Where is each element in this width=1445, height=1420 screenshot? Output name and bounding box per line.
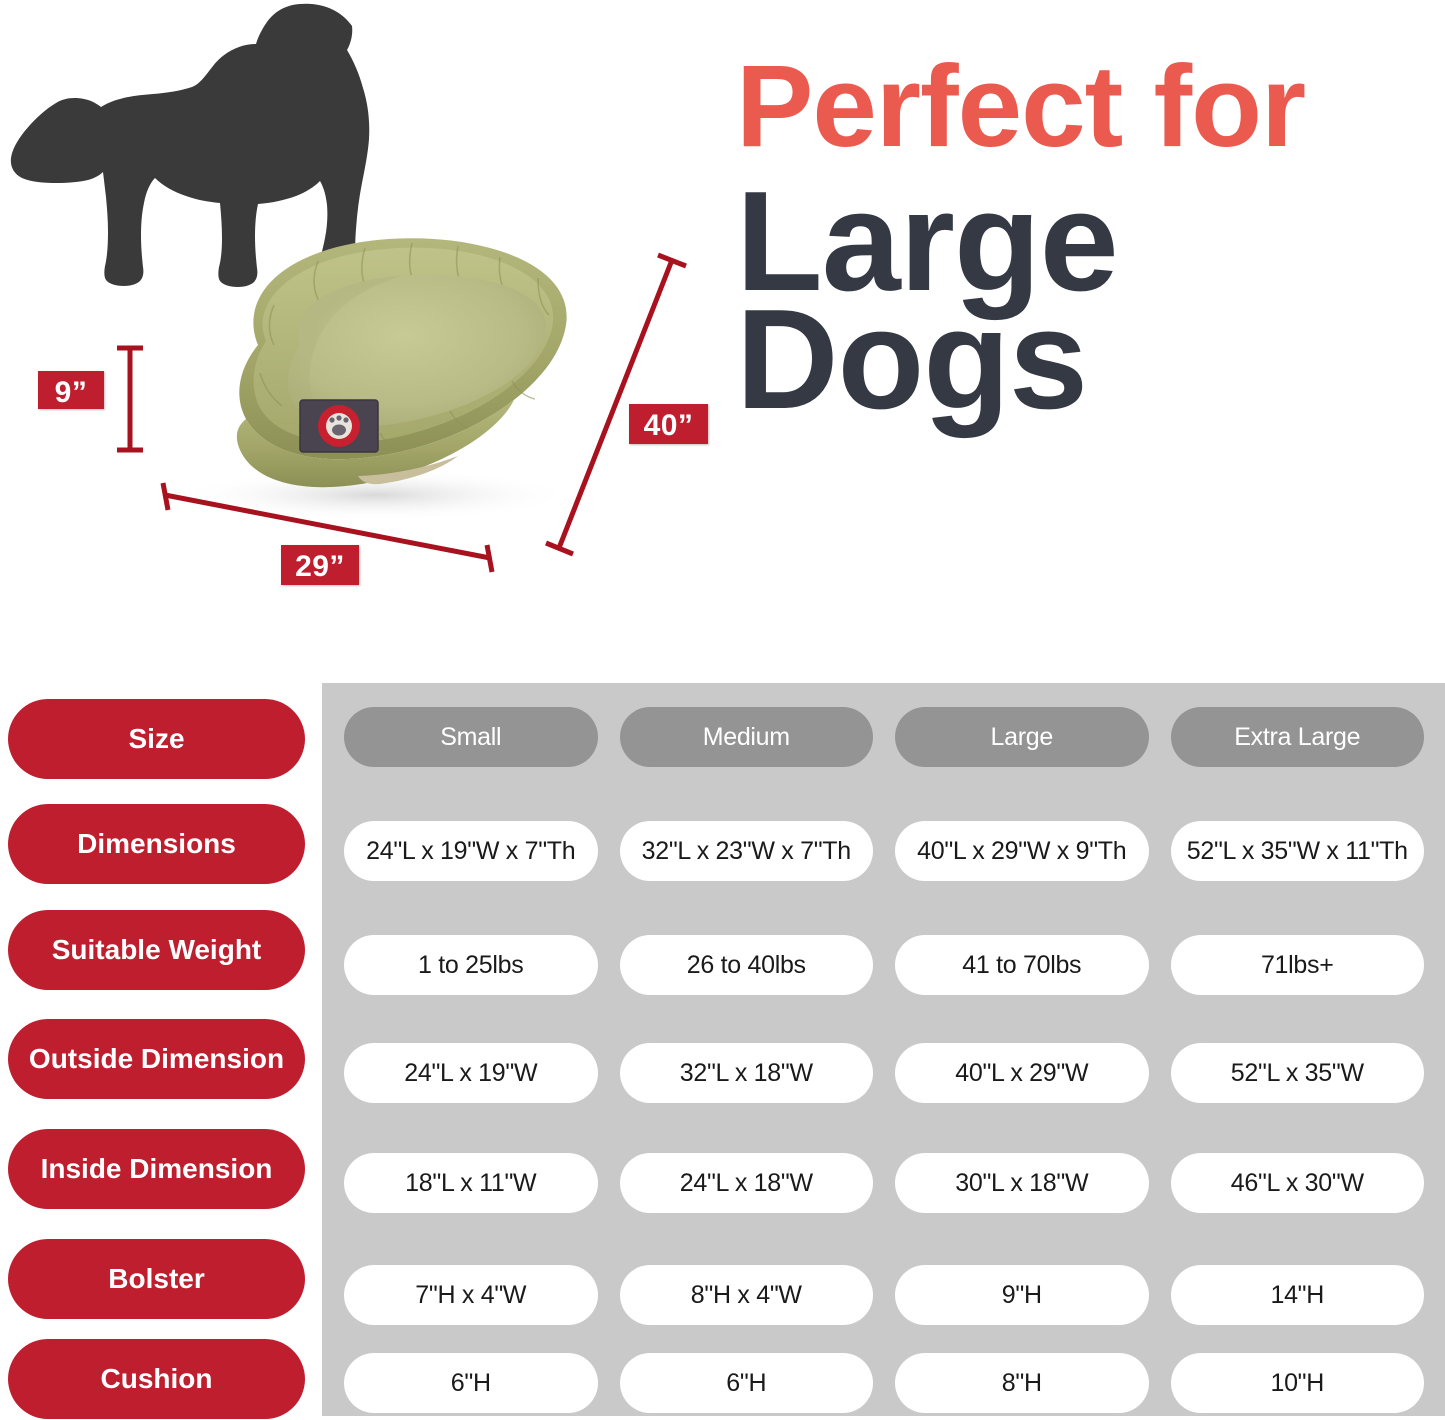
cell-outside-dimension-extra-large: 52"L x 35"W <box>1171 1043 1425 1103</box>
row-label-size: Size <box>8 699 305 779</box>
hero-section: 9” 40” 29” Perfect for Large Dogs <box>0 0 1445 683</box>
cell-inside-dimension-extra-large: 46"L x 30"W <box>1171 1153 1425 1213</box>
column-header-medium: Medium <box>620 707 874 767</box>
dimension-badge-height: 9” <box>38 371 104 409</box>
spec-table-row: 6"H6"H8"H10"H <box>344 1353 1424 1413</box>
row-label-inside-dimension: Inside Dimension <box>8 1129 305 1209</box>
spec-table-row: 24"L x 19"W32"L x 18"W40"L x 29"W52"L x … <box>344 1043 1424 1103</box>
spec-table-label-column: SizeDimensionsSuitable WeightOutside Dim… <box>0 683 322 1416</box>
cell-cushion-medium: 6"H <box>620 1353 874 1413</box>
column-header-extra-large: Extra Large <box>1171 707 1425 767</box>
cell-dimensions-medium: 32"L x 23"W x 7"Th <box>620 821 874 881</box>
cell-dimensions-small: 24"L x 19"W x 7"Th <box>344 821 598 881</box>
cell-inside-dimension-large: 30"L x 18"W <box>895 1153 1149 1213</box>
cell-suitable-weight-medium: 26 to 40lbs <box>620 935 874 995</box>
spec-table-header-row: SmallMediumLargeExtra Large <box>344 707 1424 767</box>
dimension-badge-width: 29” <box>281 545 359 585</box>
row-label-cushion: Cushion <box>8 1339 305 1419</box>
cell-outside-dimension-small: 24"L x 19"W <box>344 1043 598 1103</box>
cell-inside-dimension-small: 18"L x 11"W <box>344 1153 598 1213</box>
cell-dimensions-large: 40"L x 29"W x 9"Th <box>895 821 1149 881</box>
cell-suitable-weight-large: 41 to 70lbs <box>895 935 1149 995</box>
cell-cushion-small: 6"H <box>344 1353 598 1413</box>
row-label-suitable-weight: Suitable Weight <box>8 910 305 990</box>
headline-line-3: Dogs <box>736 293 1436 426</box>
cell-cushion-extra-large: 10"H <box>1171 1353 1425 1413</box>
headline-block: Perfect for Large Dogs <box>736 52 1436 426</box>
row-label-dimensions: Dimensions <box>8 804 305 884</box>
dimension-badge-length: 40” <box>629 404 708 444</box>
column-header-large: Large <box>895 707 1149 767</box>
spec-table: SizeDimensionsSuitable WeightOutside Dim… <box>0 683 1445 1420</box>
cell-suitable-weight-small: 1 to 25lbs <box>344 935 598 995</box>
cell-inside-dimension-medium: 24"L x 18"W <box>620 1153 874 1213</box>
row-label-outside-dimension: Outside Dimension <box>8 1019 305 1099</box>
spec-table-row: 7"H x 4"W8"H x 4"W9"H14"H <box>344 1265 1424 1325</box>
spec-table-row: 24"L x 19"W x 7"Th32"L x 23"W x 7"Th40"L… <box>344 821 1424 881</box>
cell-bolster-extra-large: 14"H <box>1171 1265 1425 1325</box>
cell-suitable-weight-extra-large: 71lbs+ <box>1171 935 1425 995</box>
cell-outside-dimension-large: 40"L x 29"W <box>895 1043 1149 1103</box>
cell-outside-dimension-medium: 32"L x 18"W <box>620 1043 874 1103</box>
spec-table-row: 18"L x 11"W24"L x 18"W30"L x 18"W46"L x … <box>344 1153 1424 1213</box>
cell-dimensions-extra-large: 52"L x 35"W x 11"Th <box>1171 821 1425 881</box>
cell-bolster-medium: 8"H x 4"W <box>620 1265 874 1325</box>
headline-line-1: Perfect for <box>736 52 1436 161</box>
cell-cushion-large: 8"H <box>895 1353 1149 1413</box>
column-header-small: Small <box>344 707 598 767</box>
cell-bolster-large: 9"H <box>895 1265 1149 1325</box>
cell-bolster-small: 7"H x 4"W <box>344 1265 598 1325</box>
spec-table-row: 1 to 25lbs26 to 40lbs41 to 70lbs71lbs+ <box>344 935 1424 995</box>
row-label-bolster: Bolster <box>8 1239 305 1319</box>
